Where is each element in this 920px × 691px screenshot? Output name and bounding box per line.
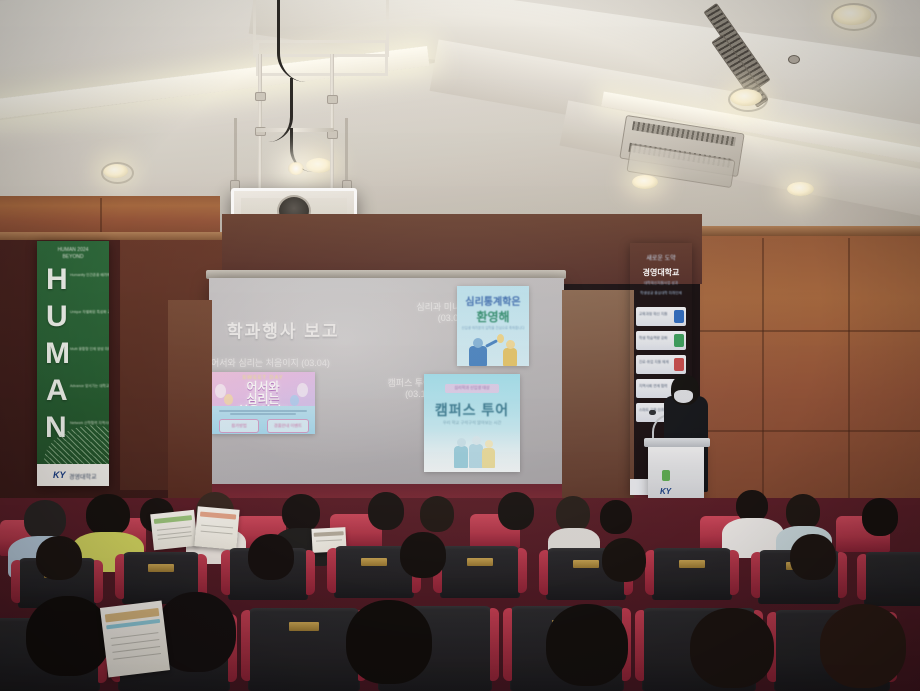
event-label-2: 어서와 심리는 처음이지 (03.04) [211, 358, 371, 369]
poster-ticket-left-text: 참가방법 [220, 423, 257, 429]
banner-card-text: 학생 학습역량 강화 [639, 336, 673, 341]
banner-side-text-4: Advance 앞서가는 대학교육 글로벌역량 [70, 384, 109, 389]
poster-figure-head [485, 440, 493, 448]
poster-balloon [297, 383, 308, 397]
poster-balloon [497, 334, 504, 343]
poster-figure-head [457, 438, 466, 447]
poster-campus-sub: 우리 학교 구석구석 알아보는 시간 [434, 420, 511, 426]
poster-balloon [290, 395, 299, 406]
seat-number-plate [467, 558, 493, 566]
seat-number-plate [679, 560, 705, 568]
program-booklet [150, 510, 198, 550]
poster-figure [482, 448, 495, 468]
poster-figure-head [506, 340, 515, 349]
banner-footer-text: 경영대학교 [69, 472, 97, 481]
podium [648, 442, 704, 506]
banner-human-top: HUMAN 2024 BEYOND [37, 247, 109, 260]
seat-number-plate [573, 560, 599, 568]
rig-pole [330, 54, 334, 192]
poster-figure-head [472, 436, 481, 445]
banner-card-chip [674, 334, 684, 346]
program-booklet [194, 506, 239, 550]
poster-ticket-right: 경품안내 이벤트 [267, 419, 309, 432]
podium-top [644, 438, 710, 447]
ceiling-downlight [787, 182, 814, 196]
rig-clamp [327, 95, 338, 104]
ky-logo: KY [53, 470, 66, 480]
rig-pole [258, 54, 262, 190]
seat-number-plate [361, 558, 387, 566]
poster-welcome-line2: 환영해 [457, 308, 529, 325]
projector-cable [277, 0, 306, 82]
wall-seam [700, 330, 920, 332]
podium-ky-logo: KY [660, 487, 671, 496]
banner-card-chip [674, 358, 684, 370]
wall-seam [700, 430, 920, 432]
banner-card-text: 진로·취업 지원 체계 [639, 360, 673, 365]
ceiling-sprinkler-icon [788, 55, 800, 64]
right-wall-wood [700, 236, 920, 518]
banner-human-top-line1: HUMAN 2024 [58, 247, 89, 253]
banner-card-text: 교육과정 혁신 지원 [639, 312, 673, 317]
projector-lift-frame [256, 40, 388, 76]
banner-letter-a: A [46, 376, 68, 406]
banner-side-text-1: Humanity 인간존중 배려하는 인재 [70, 273, 109, 278]
event-label-text: 어서와 심리는 처음이지 (03.04) [211, 358, 330, 368]
podium-emblem [662, 470, 670, 481]
poster-campus-tag: 심리학과 신입생 대상 [445, 384, 499, 393]
banner-human-top-line2: BEYOND [62, 254, 83, 260]
rig-wire [234, 118, 237, 186]
seat [864, 552, 920, 606]
banner-university-title: 경영대학교 [630, 267, 692, 278]
wall-seam [848, 238, 850, 516]
wall-seam [762, 238, 764, 516]
banner-letter-m: M [45, 339, 70, 369]
face-mask-icon [674, 390, 693, 403]
ceiling-downlight [632, 175, 658, 189]
projector-light-glare [288, 162, 304, 175]
banner-university-sub2: 학생성공 중심대학 미래인재 [630, 291, 692, 296]
slide-title: 학과행사 보고 [227, 317, 340, 342]
microphone-head-icon [649, 410, 656, 415]
poster-figure [469, 444, 483, 468]
seat [440, 546, 520, 598]
poster-sweetday-info-panel: 참가방법 경품안내 이벤트 [211, 406, 315, 434]
poster-ticket-right-text: 경품안내 이벤트 [268, 423, 308, 429]
seat-number-plate [289, 622, 319, 631]
poster-campus-title: 캠퍼스 투어 [424, 400, 520, 420]
banner-card: 학생 학습역량 강화 [636, 331, 686, 350]
program-band [314, 532, 344, 538]
poster-welcome: 심리통계학은 환영해 신입생 여러분의 입학을 진심으로 축하합니다 [457, 286, 529, 366]
seat [248, 608, 360, 691]
auditorium-photo: 학과행사 보고 심리과 미니 입학식 (03.02) 어서와 심리는 처음이지 … [0, 0, 920, 691]
poster-figure [454, 446, 468, 468]
poster-figure [469, 346, 487, 366]
downlight-ring [728, 87, 768, 112]
banner-university-head: 새로운 도약 [630, 253, 692, 262]
banner-card: 진로·취업 지원 체계 [636, 355, 686, 374]
downlight-ring [101, 162, 134, 184]
presentation-slide: 학과행사 보고 심리과 미니 입학식 (03.02) 어서와 심리는 처음이지 … [209, 278, 564, 484]
banner-letter-h: H [46, 265, 68, 295]
poster-campus-tour: 심리학과 신입생 대상 캠퍼스 투어 우리 학교 구석구석 알아보는 시간 [424, 374, 520, 472]
program-band [199, 511, 236, 519]
banner-footer: KY 경영대학교 [37, 464, 109, 486]
banner-side-text-3: Multi 융합형 인재 양성 미래사회 선도 [70, 347, 109, 352]
banner-human: HUMAN 2024 BEYOND H U M A N Humanity 인간존… [37, 241, 109, 486]
poster-welcome-sub: 신입생 여러분의 입학을 진심으로 축하합니다 [457, 325, 529, 330]
banner-card-chip [674, 310, 684, 322]
program-booklet [100, 600, 170, 677]
seat-number-plate [148, 564, 174, 572]
poster-campus-tag-text: 심리학과 신입생 대상 [445, 385, 499, 391]
poster-welcome-line1: 심리통계학은 [457, 293, 529, 308]
seat [652, 548, 732, 600]
wall-trim [700, 226, 920, 236]
program-band [153, 515, 192, 524]
banner-side-text-2: Unique 차별화된 특성화 교육 [70, 310, 109, 315]
downlight-ring [831, 3, 877, 31]
banner-letter-u: U [46, 302, 68, 332]
poster-figure-arm [485, 339, 498, 348]
poster-figure [503, 348, 517, 366]
banner-card: 교육과정 혁신 지원 [636, 307, 686, 326]
poster-sweetday: SWEET DAY 어서와 심리는 처음이지? 참가방법 [211, 372, 315, 434]
banner-university-sub1: 대학혁신지원사업 성과 [630, 281, 692, 286]
banner-card-text: 지역사회 연계 협력 [639, 384, 673, 389]
stage-wall-left [168, 300, 212, 520]
rig-wire [345, 118, 348, 186]
projection-screen: 학과행사 보고 심리과 미니 입학식 (03.02) 어서와 심리는 처음이지 … [209, 278, 564, 484]
stage-wall-right [562, 290, 634, 520]
poster-figure-head [473, 338, 483, 348]
poster-ticket-left: 참가방법 [219, 419, 258, 432]
rig-clamp [255, 92, 266, 101]
poster-balloon [224, 394, 233, 405]
